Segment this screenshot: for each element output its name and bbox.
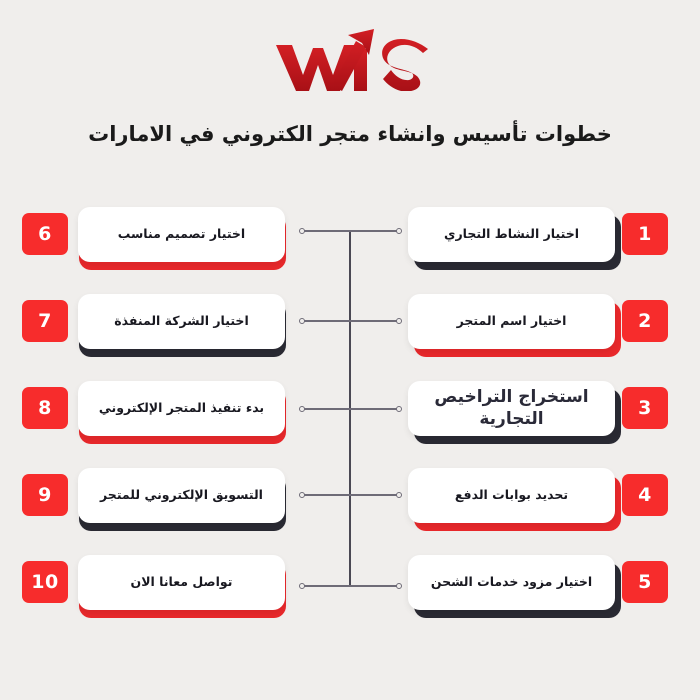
step-number-badge: 3 [622, 387, 668, 429]
branch-right-4 [350, 494, 398, 496]
branch-left-3 [302, 408, 350, 410]
step-label: اختيار اسم المتجر [457, 313, 567, 330]
step-card-6[interactable]: 6 اختيار تصميم مناسب [20, 205, 300, 277]
step-card-5[interactable]: 5 اختيار مزود خدمات الشحن [400, 553, 680, 625]
step-label: اختيار مزود خدمات الشحن [431, 574, 592, 591]
wis-logo-icon [270, 25, 430, 91]
step-card-1[interactable]: 1 اختيار النشاط التجاري [400, 205, 680, 277]
branch-right-1 [350, 230, 398, 232]
step-number-badge: 8 [22, 387, 68, 429]
step-label: بدء تنفيذ المتجر الإلكتروني [99, 400, 264, 417]
step-card-body[interactable]: اختيار الشركة المنفذة [78, 294, 285, 349]
step-number-badge: 6 [22, 213, 68, 255]
step-card-body[interactable]: بدء تنفيذ المتجر الإلكتروني [78, 381, 285, 436]
step-card-2[interactable]: 2 اختيار اسم المتجر [400, 292, 680, 364]
step-card-9[interactable]: 9 التسويق الإلكتروني للمتجر [20, 466, 300, 538]
step-card-body[interactable]: اختيار تصميم مناسب [78, 207, 285, 262]
step-label: اختيار النشاط التجاري [444, 226, 579, 243]
step-number-badge: 2 [622, 300, 668, 342]
branch-right-5 [350, 585, 398, 587]
step-card-4[interactable]: 4 تحديد بوابات الدفع [400, 466, 680, 538]
branch-left-5 [302, 585, 350, 587]
step-label: اختيار الشركة المنفذة [114, 313, 248, 330]
step-number-badge: 7 [22, 300, 68, 342]
infographic-canvas: خطوات تأسيس وانشاء متجر الكتروني في الام… [0, 0, 700, 700]
step-card-body[interactable]: اختيار مزود خدمات الشحن [408, 555, 615, 610]
branch-right-2 [350, 320, 398, 322]
step-number-badge: 5 [622, 561, 668, 603]
step-number-badge: 10 [22, 561, 68, 603]
step-number-badge: 1 [622, 213, 668, 255]
step-card-body[interactable]: تحديد بوابات الدفع [408, 468, 615, 523]
step-label: استخراج التراخيص التجارية [420, 387, 603, 430]
brand-logo [0, 22, 700, 94]
step-card-body[interactable]: اختيار اسم المتجر [408, 294, 615, 349]
step-label: التسويق الإلكتروني للمتجر [100, 487, 263, 504]
step-card-body[interactable]: تواصل معانا الان [78, 555, 285, 610]
step-number-badge: 4 [622, 474, 668, 516]
step-card-body[interactable]: التسويق الإلكتروني للمتجر [78, 468, 285, 523]
branch-left-4 [302, 494, 350, 496]
page-title: خطوات تأسيس وانشاء متجر الكتروني في الام… [0, 122, 700, 146]
step-card-3[interactable]: 3 استخراج التراخيص التجارية [400, 379, 680, 451]
branch-left-2 [302, 320, 350, 322]
branch-right-3 [350, 408, 398, 410]
step-card-10[interactable]: 10 تواصل معانا الان [20, 553, 300, 625]
step-label: تواصل معانا الان [131, 574, 233, 591]
step-card-body[interactable]: اختيار النشاط التجاري [408, 207, 615, 262]
step-card-7[interactable]: 7 اختيار الشركة المنفذة [20, 292, 300, 364]
step-label: تحديد بوابات الدفع [455, 487, 568, 504]
step-label: اختيار تصميم مناسب [118, 226, 245, 243]
step-number-badge: 9 [22, 474, 68, 516]
step-card-8[interactable]: 8 بدء تنفيذ المتجر الإلكتروني [20, 379, 300, 451]
step-card-body[interactable]: استخراج التراخيص التجارية [408, 381, 615, 436]
branch-left-1 [302, 230, 350, 232]
